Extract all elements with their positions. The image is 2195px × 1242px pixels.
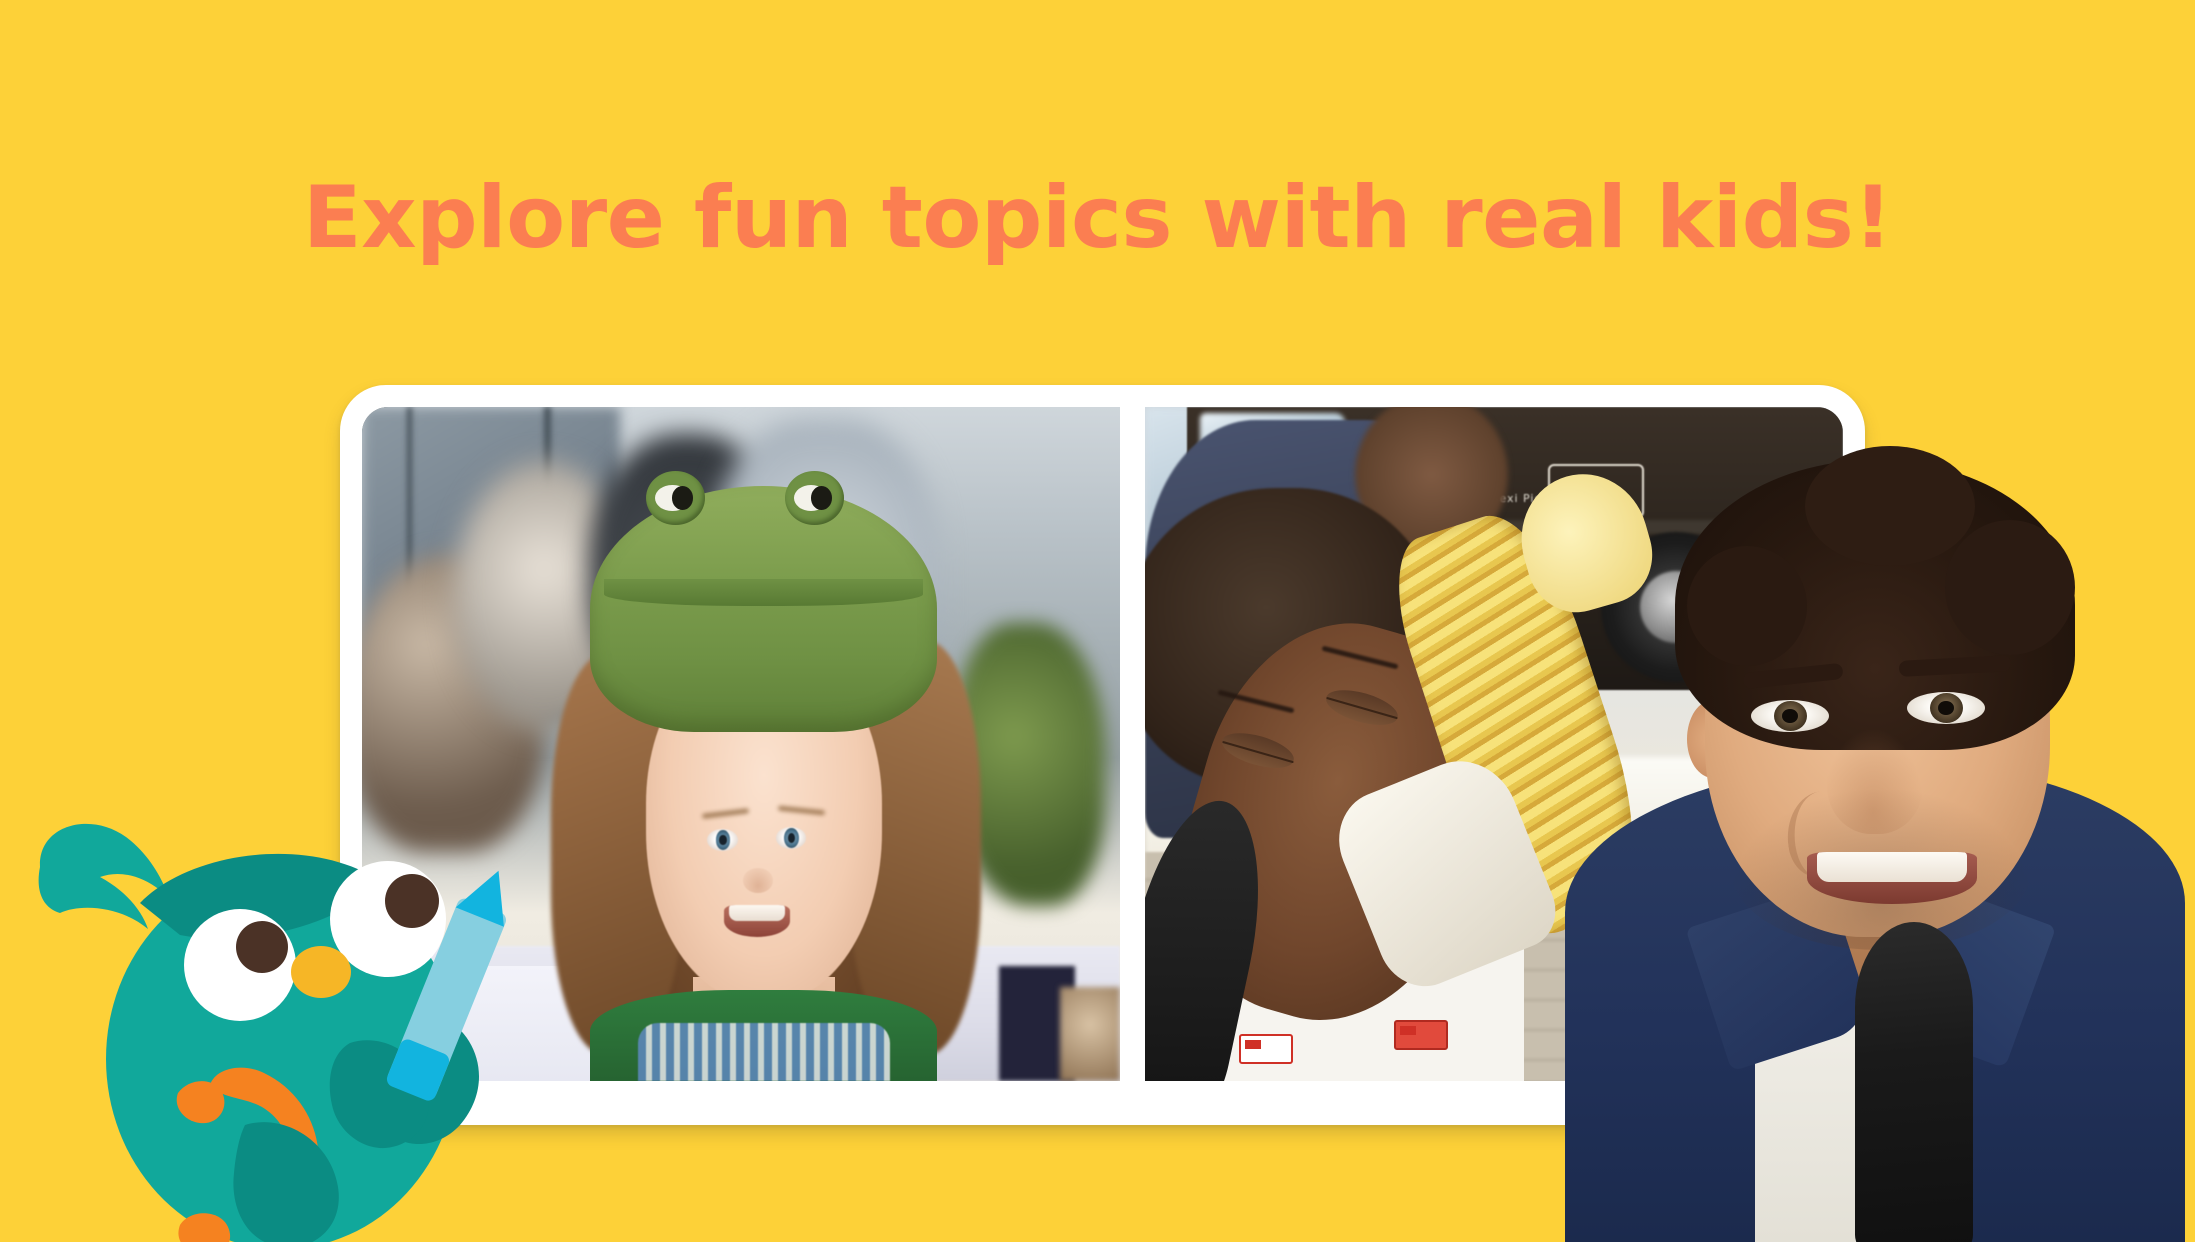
presenter-hair-curl-1 — [1687, 546, 1807, 666]
poster-canvas: Explore fun topics with real kids! — [0, 0, 2195, 1242]
pane-divider — [1120, 407, 1145, 1081]
girl-eye-left — [707, 829, 738, 851]
page-title: Explore fun topics with real kids! — [0, 168, 2195, 268]
presenter-teeth — [1817, 852, 1967, 882]
background-object-right — [1060, 987, 1121, 1081]
girl-pupil-left — [719, 835, 726, 846]
girl-shirt-pattern — [638, 1023, 890, 1081]
presenter-pupil-right — [1938, 701, 1954, 715]
owl-beak — [291, 946, 351, 998]
girl-mouth — [724, 905, 790, 937]
presenter-eye-right — [1907, 692, 1985, 724]
presenter-eye-left — [1751, 700, 1829, 732]
girl-teeth — [729, 905, 785, 920]
presenter — [1555, 400, 2195, 1242]
frog-hat-eye-right — [785, 471, 844, 525]
frog-hat-pupil-right — [811, 486, 832, 510]
presenter-hair-curl-2 — [1945, 520, 2075, 655]
girl-in-frog-hat — [567, 434, 961, 1081]
frog-hat — [590, 486, 937, 732]
presenter-hair-curl-3 — [1805, 446, 1975, 566]
owl-pupil-left — [236, 921, 288, 973]
presenter-mouth — [1807, 852, 1977, 904]
presenter-pupil-left — [1782, 709, 1798, 723]
frog-hat-eye-left — [646, 471, 705, 525]
girl-eyebrow-right — [778, 805, 826, 815]
owl-mascot — [30, 795, 530, 1242]
shirt-bus-motif-4 — [1239, 1034, 1293, 1064]
microphone — [1855, 922, 1973, 1242]
girl-eye-right — [776, 827, 807, 849]
shirt-bus-motif-3 — [1394, 1020, 1448, 1050]
owl-pupil-right — [385, 874, 439, 928]
frog-hat-brim — [604, 579, 923, 606]
owl-ear-tufts — [39, 824, 170, 929]
girl-eyebrow-left — [702, 808, 750, 819]
frog-hat-pupil-left — [672, 486, 693, 510]
girl-nose — [743, 868, 774, 893]
